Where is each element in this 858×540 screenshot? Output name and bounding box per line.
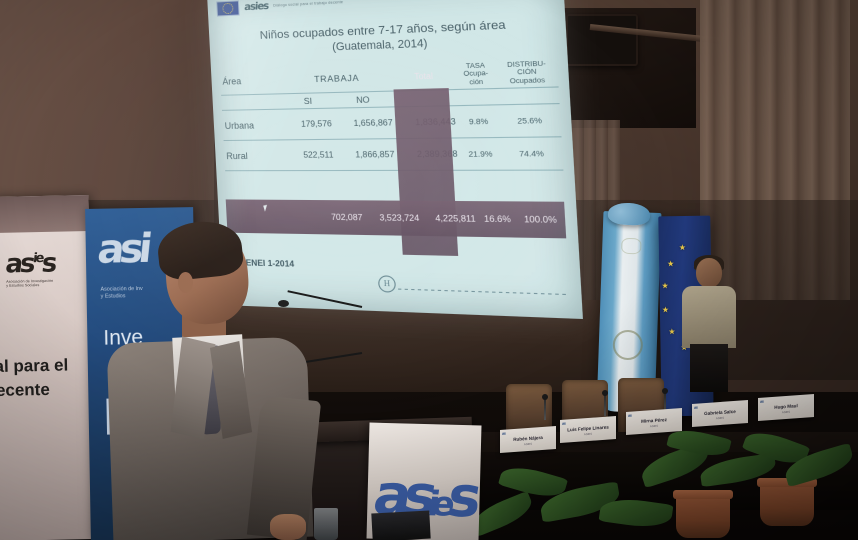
header-area: Área bbox=[220, 67, 283, 96]
potted-plant bbox=[760, 482, 814, 526]
eu-flag-icon bbox=[216, 0, 239, 16]
eu-star-icon: ★ bbox=[667, 260, 674, 268]
row-rural-tasa: 21.9% bbox=[459, 138, 502, 171]
speaker-presenter bbox=[104, 228, 314, 540]
attendee-legs bbox=[690, 344, 728, 392]
conference-photo-scene: asies Diálogo social para el trabajo dec… bbox=[0, 0, 858, 540]
nameplate: as Luis Felipe Linares ASIES bbox=[560, 416, 616, 443]
banner-white-sub-l2: y Estudios Sociales bbox=[6, 283, 39, 288]
eu-star-icon: ★ bbox=[661, 282, 668, 290]
total-row-tasa: 16.6% bbox=[479, 214, 520, 224]
slide-header: asies Diálogo social para el trabajo dec… bbox=[216, 0, 554, 20]
row-urbana-area: Urbana bbox=[222, 109, 286, 140]
guatemala-coat-of-arms-icon bbox=[612, 329, 643, 360]
banner-white-text-line1: ocial para el bbox=[0, 355, 68, 377]
attendee-head bbox=[696, 258, 722, 288]
banner-white-top-bar bbox=[0, 195, 89, 233]
total-row-no: 3,523,724 bbox=[365, 213, 422, 223]
banner-white-logo-sub: Asociación de Investigación y Estudios S… bbox=[6, 278, 76, 289]
flag-top-ornament bbox=[621, 238, 642, 255]
banner-white-logo-block: asies Asociación de Investigación y Estu… bbox=[5, 245, 76, 288]
row-rural-dist: 74.4% bbox=[500, 137, 563, 170]
total-row-total: 4,225,811 bbox=[422, 214, 479, 224]
row-rural-area: Rural bbox=[224, 140, 288, 171]
eu-star-icon: ★ bbox=[662, 306, 669, 314]
attendee-torso bbox=[682, 286, 736, 348]
banner-white-text-line2: o decente bbox=[0, 380, 50, 402]
subheader-tasa-blank bbox=[456, 89, 498, 106]
row-rural-no: 1,866,857 bbox=[335, 139, 398, 171]
subheader-blank bbox=[221, 94, 284, 111]
header-tasa-l3: ción bbox=[469, 78, 483, 86]
speaker-hair bbox=[155, 218, 244, 282]
slide-data-table: Área TRABAJA Total TASA Ocupa- ción DIST… bbox=[220, 58, 564, 172]
table-row: Rural 522,511 1,866,857 2,389,368 21.9% … bbox=[224, 137, 564, 171]
asies-logo-icon: asies bbox=[4, 245, 77, 277]
total-row-area bbox=[227, 216, 319, 217]
eu-star-icon: ★ bbox=[668, 328, 675, 336]
header-tasa-ocupacion: TASA Ocupa- ción bbox=[455, 60, 498, 90]
slide-footer-divider bbox=[398, 289, 567, 296]
eu-star-icon: ★ bbox=[679, 244, 686, 252]
asies-logo-icon: asies bbox=[244, 1, 268, 13]
row-urbana-si: 179,576 bbox=[284, 108, 335, 140]
nameplate-logo-icon: as bbox=[502, 431, 505, 436]
row-urbana-no: 1,656,867 bbox=[333, 107, 396, 139]
nameplate: as Mirna Pérez ASIES bbox=[626, 408, 682, 435]
banner-white: asies Asociación de Investigación y Estu… bbox=[0, 195, 96, 540]
header-dist-l2: CIÓN bbox=[517, 69, 537, 77]
slide-footer-logo-icon: H bbox=[378, 275, 396, 292]
row-urbana-tasa: 9.8% bbox=[457, 105, 500, 138]
table-microphone bbox=[544, 398, 546, 420]
header-dist-l3: Ocupados bbox=[510, 77, 546, 86]
attendee-standing bbox=[676, 258, 742, 390]
nameplate: as Gabriela Salce ASIES bbox=[692, 400, 748, 427]
total-row-dist: 100.0% bbox=[519, 215, 565, 225]
subheader-si: SI bbox=[283, 93, 333, 110]
nameplate-logo-icon: as bbox=[562, 421, 565, 426]
nameplate-logo-icon: as bbox=[760, 399, 763, 404]
speaker-hand bbox=[270, 514, 306, 540]
nameplate-logo-icon: as bbox=[628, 413, 631, 418]
nameplate: as Hugo Maul ASIES bbox=[758, 394, 814, 421]
header-tasa-l1: TASA bbox=[466, 62, 485, 70]
potted-plant bbox=[676, 494, 730, 538]
subheader-no: NO bbox=[332, 91, 394, 108]
wall-monitor bbox=[566, 14, 638, 66]
table-microphone bbox=[604, 394, 606, 416]
slide-header-note: Diálogo social para el trabajo decente bbox=[273, 0, 343, 9]
header-trabaja-group: TRABAJA bbox=[282, 63, 393, 94]
header-total: Total bbox=[392, 61, 457, 91]
header-distribucion: DISTRIBU- CIÓN Ocupados bbox=[496, 58, 559, 89]
subheader-dist-blank bbox=[497, 87, 559, 105]
nameplate-logo-icon: as bbox=[694, 405, 697, 410]
slide-title: Niños ocupados entre 7-17 años, según ár… bbox=[218, 16, 556, 59]
speaker-ear bbox=[178, 272, 193, 293]
total-row-si: 702,087 bbox=[318, 212, 366, 222]
row-rural-si: 522,511 bbox=[286, 140, 337, 171]
laptop bbox=[371, 511, 430, 540]
table-row: Urbana 179,576 1,656,867 1,836,443 9.8% … bbox=[222, 104, 562, 141]
row-urbana-dist: 25.6% bbox=[498, 104, 561, 138]
header-tasa-l2: Ocupa- bbox=[463, 70, 488, 78]
water-glass bbox=[314, 508, 338, 540]
nameplate: as Rubén Nájera ASIES bbox=[500, 426, 556, 453]
